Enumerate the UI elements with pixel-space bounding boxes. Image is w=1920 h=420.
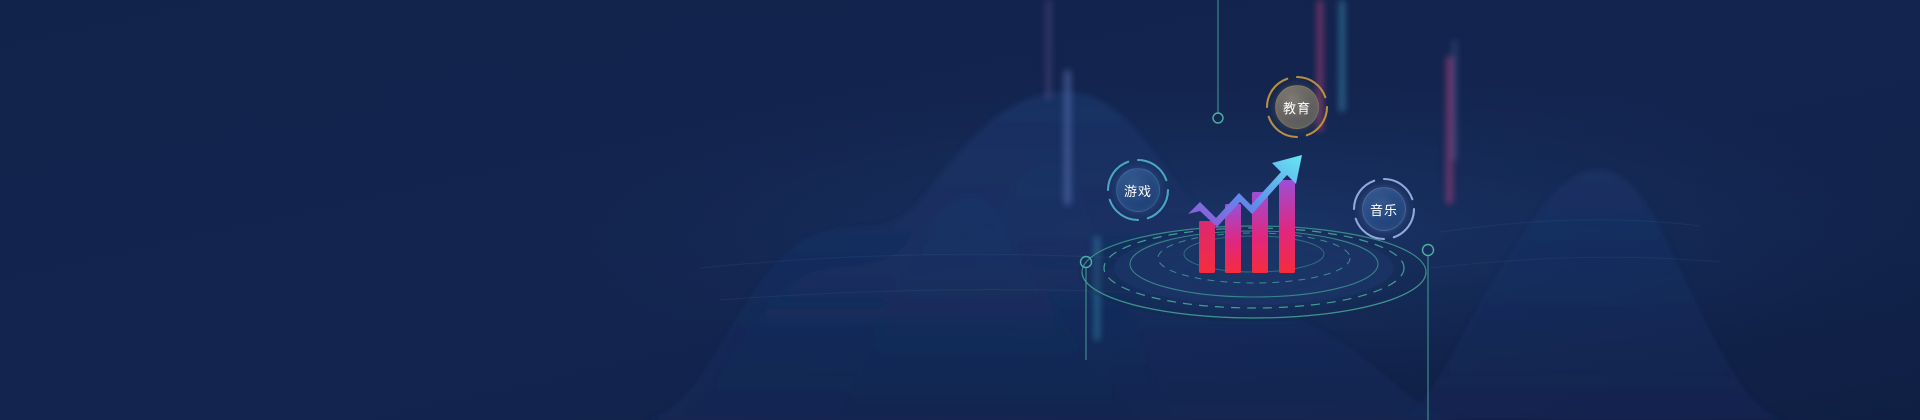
badge-ring-education: 教育 (1262, 72, 1332, 142)
bar-4 (1279, 180, 1295, 273)
badge-label-music: 音乐 (1370, 200, 1398, 219)
bar-1 (1199, 221, 1215, 273)
hero-banner: 游戏 教育 (0, 0, 1920, 420)
badge-disc-education: 教育 (1275, 85, 1319, 129)
category-badge-music[interactable]: 音乐 (1349, 174, 1419, 244)
badge-ring-games: 游戏 (1103, 155, 1173, 225)
badge-label-education: 教育 (1283, 98, 1311, 117)
badge-disc-games: 游戏 (1116, 168, 1160, 212)
badge-ring-music: 音乐 (1349, 174, 1419, 244)
node-top-icon (1213, 113, 1223, 123)
category-badge-games[interactable]: 游戏 (1103, 155, 1173, 225)
infographic-art (0, 0, 1920, 420)
badge-disc-music: 音乐 (1362, 187, 1406, 231)
node-right-icon (1423, 245, 1434, 256)
category-badge-education[interactable]: 教育 (1262, 72, 1332, 142)
badge-label-games: 游戏 (1124, 181, 1152, 200)
